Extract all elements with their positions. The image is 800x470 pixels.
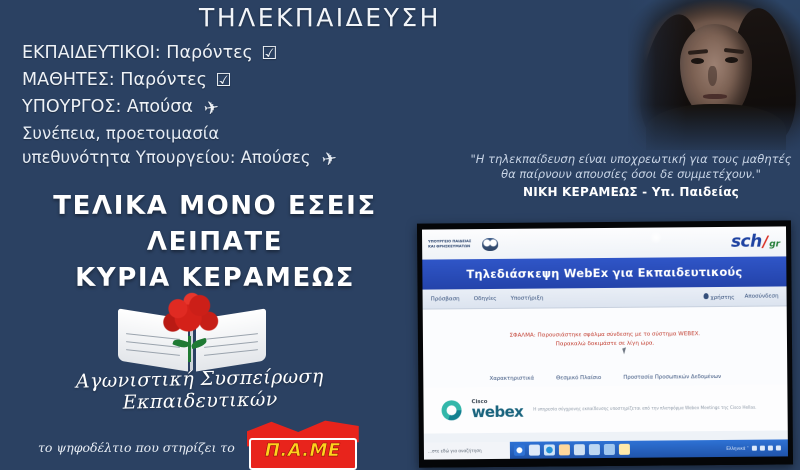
footer-link-legal[interactable]: Θεσμικό Πλαίσιο [556, 375, 601, 381]
taskbar-icon-store[interactable] [589, 444, 600, 455]
webex-label: webex [472, 405, 524, 420]
webex-screenshot-photo: ΥΠΟΥΡΓΕΙΟ ΠΑΙΔΕΙΑΣ ΚΑΙ ΘΡΗΣΚΕΥΜΑΤΩΝ sch … [417, 220, 793, 467]
attendance-value-minister: Απούσα [127, 97, 193, 117]
taskbar-icon-media[interactable] [604, 444, 615, 455]
taskbar-icon-explorer[interactable] [529, 445, 540, 456]
page-title: ΤΗΛΕΚΠΑΙΔΕΥΣΗ [0, 3, 640, 32]
owl-icon [482, 237, 498, 250]
quote-line-1: "Η τηλεκπαίδευση είναι υποχρεωτική για τ… [462, 152, 800, 167]
webex-description: Η υπηρεσία σύγχρονης εκπαίδευσης υποστηρ… [533, 405, 769, 413]
sch-gr-logo: sch / gr [731, 231, 780, 251]
tray-icon-volume[interactable] [760, 446, 765, 451]
note-line-1: Συνέπεια, προετοιμασία [22, 122, 462, 146]
support-text: το ψηφοδέλτιο που στηρίζει το [38, 440, 235, 455]
taskbar-icon-active-app[interactable] [619, 444, 630, 455]
quote-attribution: ΝΙΚΗ ΚΕΡΑΜΕΩΣ - Υπ. Παιδείας [462, 185, 800, 199]
note-line-2-wrap: υπεθυνότητα Υπουργείου: Απούσες ✈ [22, 146, 462, 172]
attendance-label-teachers: ΕΚΠΑΙΔΕΥΤΙΚΟΙ: [22, 43, 161, 63]
nav-item-support[interactable]: Υποστήριξη [511, 295, 544, 301]
headline-line-1: ΤΕΛΙΚΑ ΜΟΝΟ ΕΣΕΙΣ ΛΕΙΠΑΤΕ [0, 188, 430, 260]
taskbar-icon-mail[interactable] [574, 444, 585, 455]
user-icon [703, 293, 708, 299]
error-line-2: Παρακαλώ δοκιμάστε σε λίγη ώρα. [556, 340, 655, 347]
webex-wordmark: Cisco webex [471, 400, 523, 421]
site-header: ΥΠΟΥΡΓΕΙΟ ΠΑΙΔΕΙΑΣ ΚΑΙ ΘΡΗΣΚΕΥΜΑΤΩΝ sch … [422, 226, 786, 259]
taskbar-icon-browser[interactable] [544, 444, 555, 455]
airplane-icon: ✈ [203, 95, 222, 123]
taskbar-tray: Ελληνικά ˄ [726, 445, 784, 451]
taskbar-search-placeholder: ...στε εδώ για αναζήτηση [428, 448, 482, 453]
checkbox-checked-icon: ☑ [215, 68, 231, 94]
flower-stem [188, 336, 191, 362]
attendance-row-minister: ΥΠΟΥΡΓΟΣ: Απούσα ✈ [22, 94, 462, 122]
cisco-webex-icon [441, 400, 461, 420]
nav-item-instructions[interactable]: Οδηγίες [474, 295, 497, 301]
organization-name: Αγωνιστική Συσπείρωση Εκπαιδευτικών [0, 364, 400, 416]
tray-icon-battery[interactable] [768, 446, 773, 451]
webex-branding: Cisco webex Η υπηρεσία σύγχρονης εκπαίδε… [423, 384, 787, 433]
support-row: το ψηφοδέλτιο που στηρίζει το Π.Α.ΜΕ Παν… [38, 418, 368, 470]
page-heading: Τηλεδιάσκεψη WebEx για Εκπαιδευτικούς [422, 256, 786, 289]
attendance-row-students: ΜΑΘΗΤΕΣ: Παρόντες ☑ [22, 67, 462, 94]
carnation-flower-icon [160, 292, 224, 344]
quote-line-2: θα παίρνουν απουσίες όσοι δε συμμετέχουν… [462, 167, 800, 182]
windows-taskbar: ...στε εδώ για αναζήτηση Ελληνικά ˄ [424, 439, 788, 459]
taskbar-icon-folder[interactable] [559, 444, 570, 455]
screen-content: ΥΠΟΥΡΓΕΙΟ ΠΑΙΔΕΙΑΣ ΚΑΙ ΘΡΗΣΚΕΥΜΑΤΩΝ sch … [422, 226, 788, 459]
minister-portrait [628, 0, 800, 150]
pame-logo: Π.Α.ΜΕ Πανεργατικό Αγωνιστικό Μέτωπο [243, 418, 361, 470]
photo-border-bottom [419, 462, 793, 467]
pame-wordmark: Π.Α.ΜΕ [249, 439, 357, 463]
taskbar-language[interactable]: Ελληνικά ˄ [726, 446, 749, 451]
checkbox-checked-icon: ☑ [261, 41, 277, 67]
user-label: χρήστης [710, 294, 734, 300]
taskbar-icon-settings[interactable] [514, 445, 525, 456]
poster-canvas: ΤΗΛΕΚΠΑΙΔΕΥΣΗ ΕΚΠΑΙΔΕΥΤΙΚΟΙ: Παρόντες ☑ … [0, 0, 800, 470]
tray-icon-network[interactable] [752, 446, 757, 451]
logout-link[interactable]: Αποσύνδεση [745, 293, 779, 299]
note-line-2: υπεθυνότητα Υπουργείου: Απούσες [22, 148, 311, 167]
taskbar-search[interactable]: ...στε εδώ για αναζήτηση [424, 442, 510, 460]
nav-right-group: χρήστης Αποσύνδεση [703, 292, 778, 301]
attendance-label-minister: ΥΠΟΥΡΓΟΣ: [22, 97, 121, 117]
tray-icon-notifications[interactable] [776, 445, 781, 450]
attendance-row-teachers: ΕΚΠΑΙΔΕΥΤΙΚΟΙ: Παρόντες ☑ [22, 40, 462, 67]
ministry-logo-text: ΥΠΟΥΡΓΕΙΟ ΠΑΙΔΕΙΑΣ ΚΑΙ ΘΡΗΣΚΕΥΜΑΤΩΝ [428, 239, 476, 249]
attendance-label-students: ΜΑΘΗΤΕΣ: [22, 70, 115, 90]
attendance-value-students: Παρόντες [120, 70, 207, 90]
book-carnation-logo [116, 290, 268, 370]
attendance-value-teachers: Παρόντες [166, 43, 253, 63]
quote-block: "Η τηλεκπαίδευση είναι υποχρεωτική για τ… [462, 152, 800, 199]
sch-logo-slash: / [763, 233, 769, 251]
nav-item-access[interactable]: Πρόσβαση [431, 296, 460, 302]
headline: ΤΕΛΙΚΑ ΜΟΝΟ ΕΣΕΙΣ ΛΕΙΠΑΤΕ ΚΥΡΙΑ ΚΕΡΑΜΕΩΣ [0, 188, 430, 296]
portrait-gradient-overlay [628, 0, 800, 150]
airplane-icon: ✈ [320, 147, 338, 173]
taskbar-apps: Ελληνικά ˄ [510, 439, 788, 458]
error-line-1: ΣΦΑΛΜΑ: Παρουσιάστηκε σφάλμα σύνδεσης με… [510, 331, 701, 339]
sch-logo-gr: gr [769, 239, 780, 249]
attendance-list: ΕΚΠΑΙΔΕΥΤΙΚΟΙ: Παρόντες ☑ ΜΑΘΗΤΕΣ: Παρόν… [22, 40, 462, 172]
sch-logo-text: sch [731, 232, 762, 252]
footer-link-privacy[interactable]: Προστασία Προσωπικών Δεδομένων [623, 374, 721, 381]
error-panel: ΣΦΑΛΜΑ: Παρουσιάστηκε σφάλμα σύνδεσης με… [423, 306, 788, 371]
footer-link-features[interactable]: Χαρακτηριστικά [490, 376, 535, 382]
mouse-cursor-icon [622, 347, 628, 354]
user-account[interactable]: χρήστης [703, 292, 734, 300]
screen-glare [650, 231, 662, 243]
